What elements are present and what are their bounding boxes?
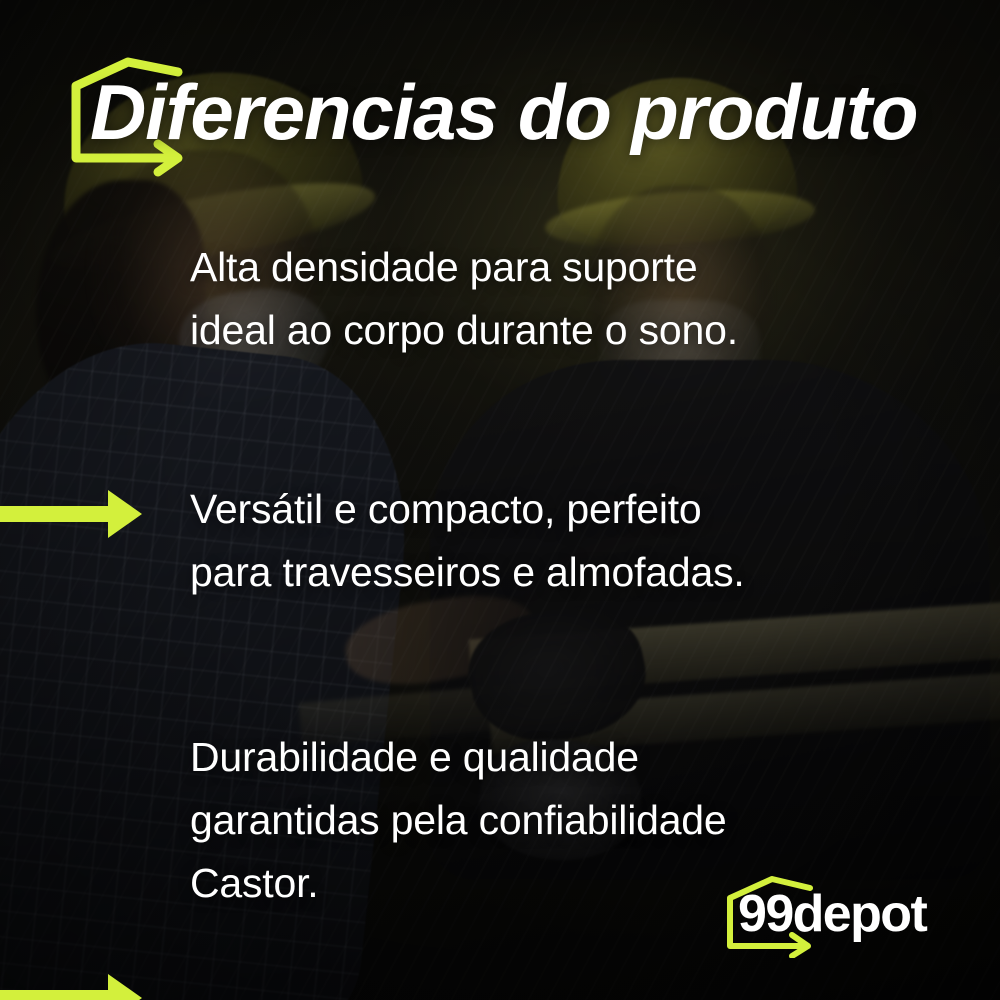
page-title: Diferencias do produto xyxy=(66,58,946,176)
list-item-text: Versátil e compacto, perfeito para trave… xyxy=(190,478,910,604)
brand-logo: 99depot xyxy=(722,876,944,958)
arrow-right-icon xyxy=(0,484,145,544)
page-title-text: Diferencias do produto xyxy=(90,66,917,158)
list-item-line: garantidas pela confiabilidade xyxy=(190,789,910,852)
list-item-line: Durabilidade e qualidade xyxy=(190,726,910,789)
list-item-line: ideal ao corpo durante o sono. xyxy=(190,299,910,362)
list-item-line: Versátil e compacto, perfeito xyxy=(190,478,910,541)
list-item-line: Alta densidade para suporte xyxy=(190,236,910,299)
brand-logo-text: 99depot xyxy=(738,882,926,947)
arrow-right-icon xyxy=(0,968,145,1000)
list-item-text: Alta densidade para suporte ideal ao cor… xyxy=(190,236,910,362)
list-item-line: para travesseiros e almofadas. xyxy=(190,541,910,604)
poster-content: Diferencias do produto Alta densidade pa… xyxy=(0,0,1000,1000)
promo-poster: Diferencias do produto Alta densidade pa… xyxy=(0,0,1000,1000)
